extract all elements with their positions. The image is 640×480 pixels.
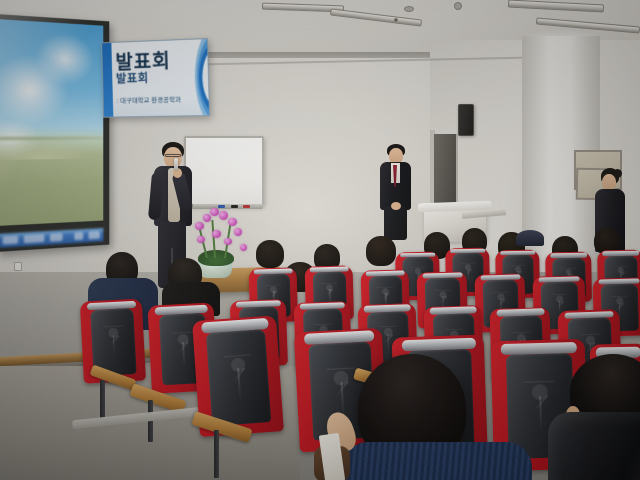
- orchid-bloom: [219, 211, 228, 220]
- auditorium-photo: 발표회 발표회 : 대구대학교 환경공학과: [0, 0, 640, 480]
- windows-taskbar: [0, 228, 103, 248]
- suit-man-hands: [391, 202, 401, 210]
- wall-banner: 발표회 발표회 : 대구대학교 환경공학과: [101, 38, 210, 118]
- wall-speaker-icon: [458, 104, 474, 136]
- seat-emboss-motif: [103, 326, 125, 365]
- wallpaper-horizon: [0, 137, 103, 140]
- seat-emboss-motif: [172, 331, 195, 373]
- audience-head: [256, 240, 284, 268]
- man-in-suit: [378, 144, 414, 240]
- orchid-bloom: [224, 238, 232, 245]
- wallpaper-hill: [0, 127, 103, 160]
- seat-panel: [206, 329, 271, 426]
- projection-screen: [0, 14, 109, 252]
- orchid-bloom: [228, 218, 237, 226]
- banner-subheadline: 발표회: [116, 69, 149, 87]
- microphone-icon: [174, 158, 178, 170]
- seat-emboss-motif: [224, 354, 255, 410]
- projected-wallpaper: [0, 19, 103, 226]
- taskbar-tray: [74, 232, 83, 240]
- audience-head-with-cap: [516, 230, 544, 246]
- doorway[interactable]: [434, 134, 458, 208]
- ceiling-smoke-detector: [404, 6, 414, 12]
- ceiling-sprinkler: [454, 2, 462, 10]
- ceiling-sensor: [394, 18, 398, 22]
- orchid-bloom: [197, 236, 205, 243]
- foreground-person-leather-jacket: [548, 362, 640, 480]
- taskbar-item: [24, 234, 45, 243]
- orchid-leaves: [198, 250, 234, 266]
- orchid-bloom: [212, 230, 221, 238]
- taskbar-item: [50, 233, 63, 241]
- speaker-glasses-icon: [165, 154, 181, 157]
- orchid-bloom: [203, 214, 211, 222]
- whiteboard-marker: [243, 205, 250, 208]
- banner-side-band: [102, 43, 113, 117]
- foreground-person-navy-sweater: [336, 358, 540, 480]
- banner-affiliation: : 대구대학교 환경공학과: [116, 94, 181, 105]
- suit-man-trousers: [384, 206, 407, 240]
- taskbar-start-button: [3, 236, 18, 245]
- seat-leg: [100, 380, 105, 418]
- whiteboard-marker: [218, 205, 225, 208]
- leather-jacket: [548, 412, 640, 480]
- orchid-bloom: [234, 228, 242, 236]
- whiteboard-marker: [231, 205, 238, 208]
- speaker-head: [164, 147, 182, 168]
- taskbar-clock: [88, 231, 99, 239]
- seat-leg: [214, 430, 219, 478]
- audience-head: [366, 236, 396, 266]
- orchid-bloom: [210, 208, 219, 216]
- foreground-sweater: [342, 442, 532, 480]
- orchid-bloom: [240, 244, 247, 251]
- power-outlet: [14, 262, 22, 271]
